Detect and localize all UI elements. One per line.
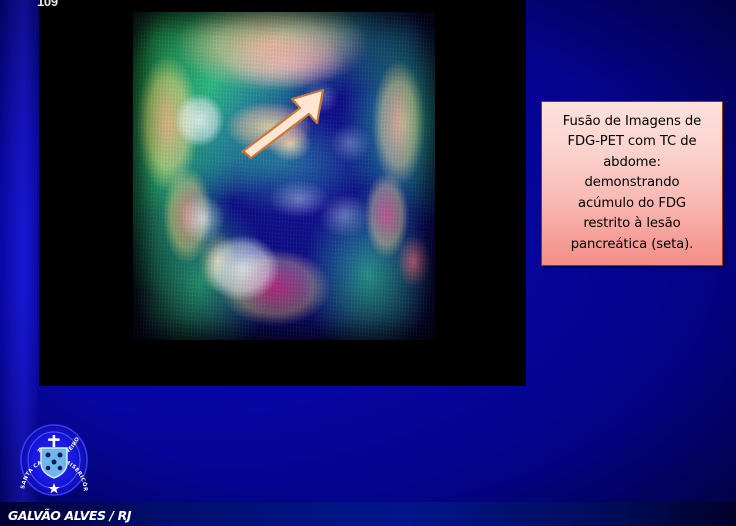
santa-casa-seal-logo: SANTA CASA DA MISERICÓRDIA DO RIO DE JAN… [12,421,96,499]
pet-ct-fusion-image [133,12,435,340]
slide-number: 109 [37,0,58,8]
pet-noise-texture-layer [133,12,435,340]
presentation-slide: 109 Fusão de Imagens de FDG-PET com TC d… [0,0,736,526]
caption-text-box: Fusão de Imagens de FDG-PET com TC de ab… [541,101,723,266]
image-panel [39,0,526,386]
caption-text: Fusão de Imagens de FDG-PET com TC de ab… [557,112,707,256]
lesion-pointer-arrow-icon [237,82,337,162]
footer-credit: GALVÃO ALVES / RJ [8,508,131,523]
